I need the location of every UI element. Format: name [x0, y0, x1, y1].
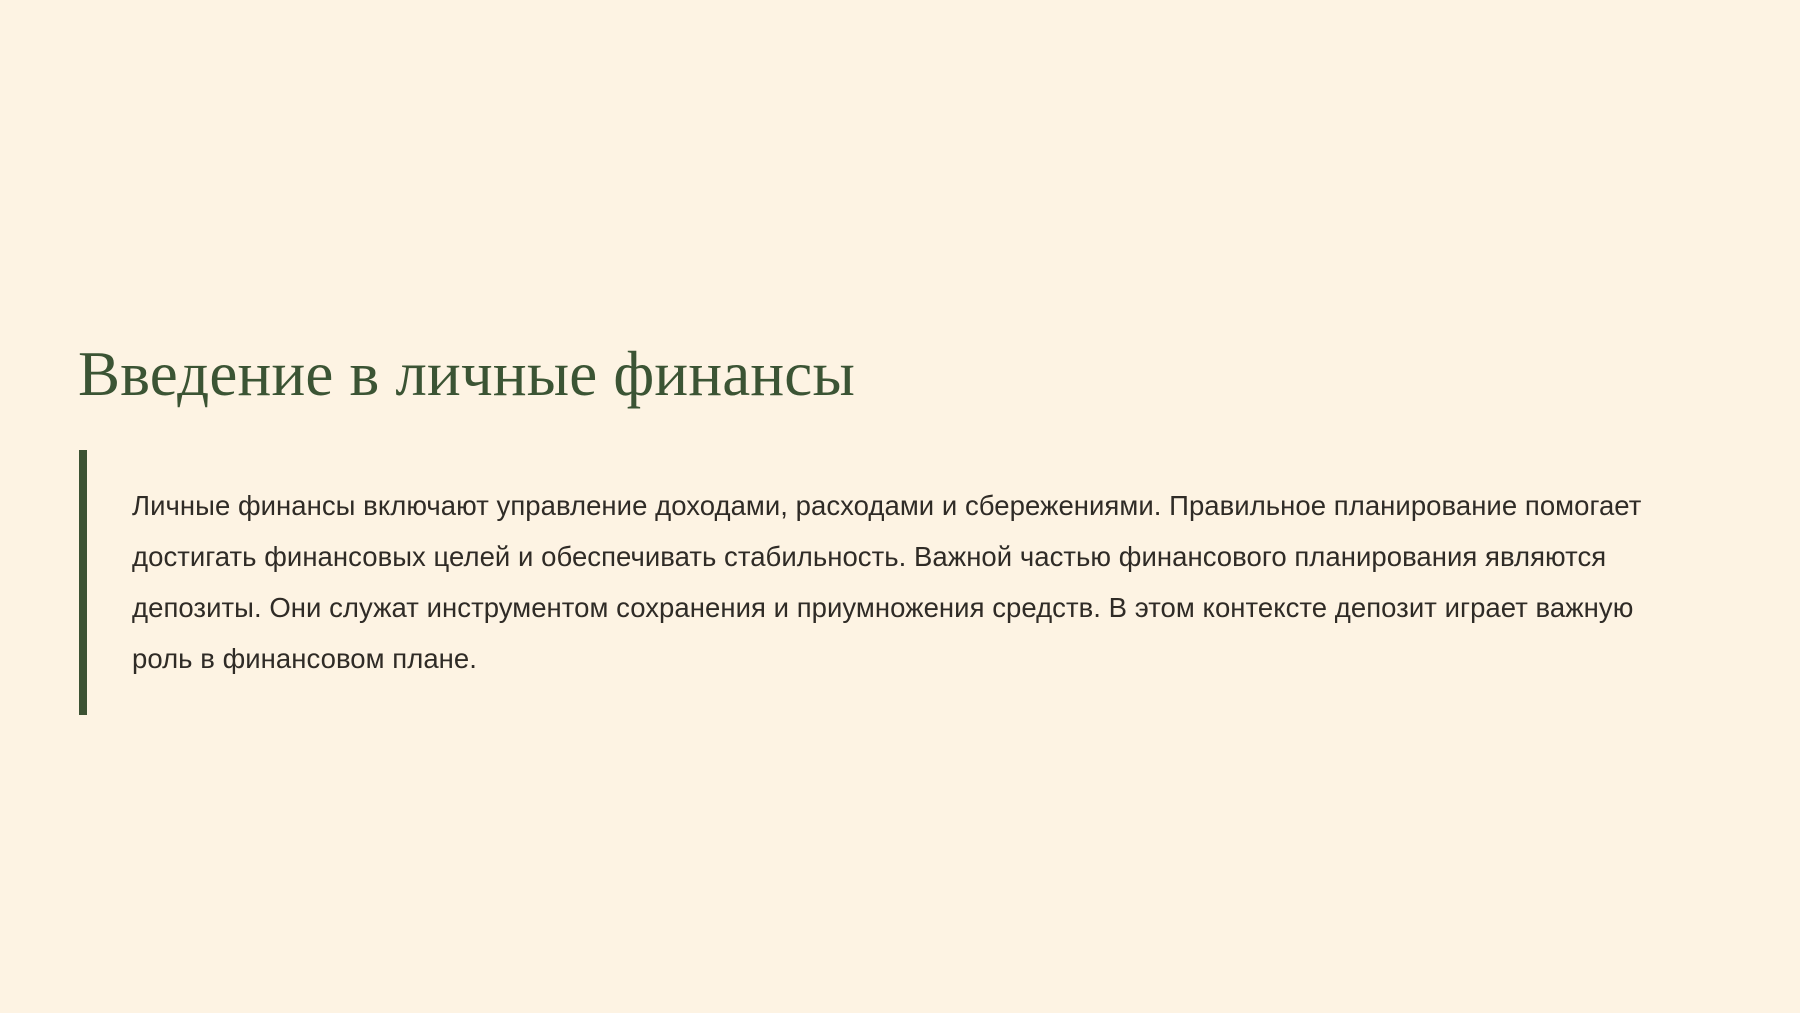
body-callout: Личные финансы включают управление доход…	[79, 450, 1718, 715]
accent-bar	[79, 450, 87, 715]
slide-content: Введение в личные финансы Личные финансы…	[78, 340, 1718, 715]
body-paragraph: Личные финансы включают управление доход…	[132, 478, 1692, 688]
slide-canvas: Введение в личные финансы Личные финансы…	[0, 0, 1800, 1013]
page-title: Введение в личные финансы	[78, 340, 1718, 408]
